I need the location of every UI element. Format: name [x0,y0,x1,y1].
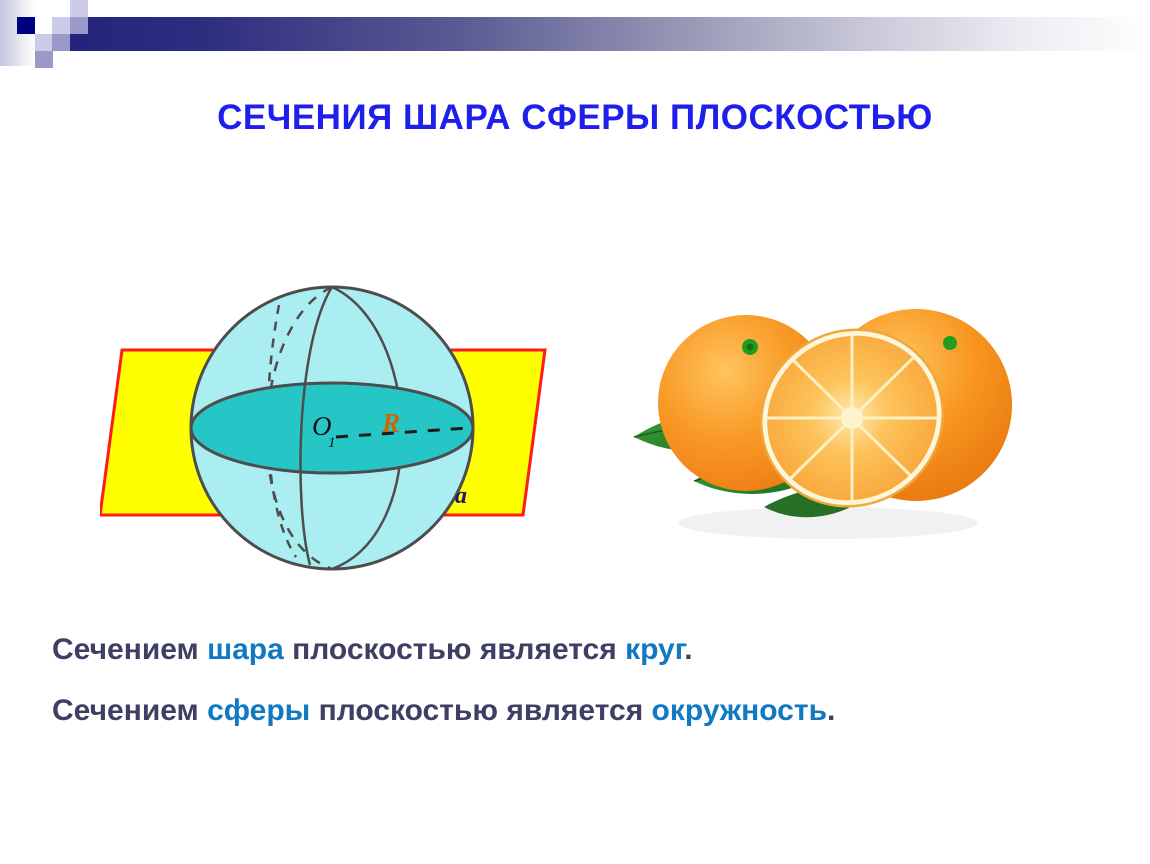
label-center-subscript: 1 [328,435,336,451]
statement-1-highlight-ball: шара [207,633,284,666]
deco-square-dark-row3 [70,34,88,51]
header-decoration [0,0,1150,72]
statement-2-part-0: Сечением [52,694,207,727]
deco-square-mid-row4 [35,51,53,68]
page-title: СЕЧЕНИЯ ШАРА СФЕРЫ ПЛОСКОСТЬЮ [0,98,1150,138]
orange-left-stem-core [747,344,754,351]
header-gradient-bar [70,17,1150,51]
statement-2-part-4: . [827,694,835,727]
sphere-plane-diagram: O 1 R a [100,265,570,595]
oranges-illustration [598,285,1038,555]
label-plane: a [455,483,467,509]
orange-back-right-stem [943,336,957,350]
statement-1-part-4: . [684,633,692,666]
statement-2-highlight-circumference: окружность [652,694,827,727]
deco-square-light-row3a [35,34,53,51]
deco-square-navy [17,17,35,34]
statement-sphere-section: Сечением сферы плоскостью является окруж… [52,694,835,728]
statement-1-highlight-circle-disk: круг [625,633,684,666]
deco-square-light-row2a [52,17,70,34]
label-radius: R [381,408,400,438]
statement-ball-section: Сечением шара плоскостью является круг. [52,633,693,667]
statement-1-part-2: плоскостью является [284,633,625,666]
statement-2-highlight-sphere: сферы [207,694,310,727]
orange-half-core [841,407,863,429]
statement-1-part-0: Сечением [52,633,207,666]
deco-square-light-top [70,0,88,17]
deco-square-mid-row3 [52,34,70,51]
deco-square-mid-row2 [70,17,88,34]
statement-2-part-2: плоскостью является [310,694,651,727]
